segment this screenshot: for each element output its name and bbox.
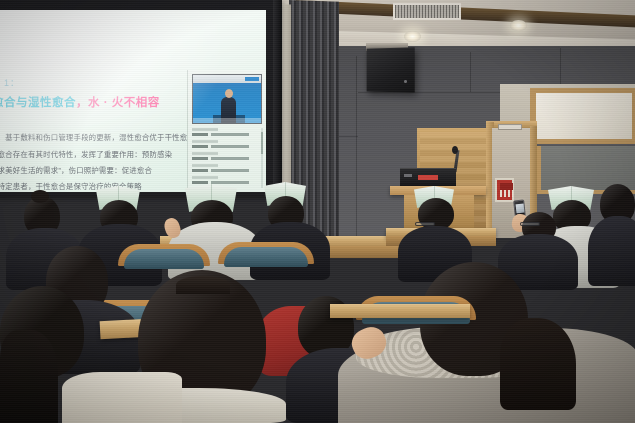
eyeglasses-icon — [520, 222, 540, 226]
comment-item — [192, 164, 264, 175]
microphone-head-icon — [452, 146, 458, 154]
projection-screen-surface: 1： 愈合与湿性愈合，水 · 火不相容 今，基于敷料和伤口管理手段的更新，湿性愈… — [0, 10, 266, 192]
attendee-cream-sleeve — [62, 372, 182, 423]
attendee-ponytail — [0, 330, 58, 423]
slide-heading-tail: ，水 · 火不相容 — [76, 97, 160, 109]
lecture-hall-photo: 1： 愈合与湿性愈合，水 · 火不相容 今，基于敷料和伤口管理手段的更新，湿性愈… — [0, 0, 635, 423]
slide-body-line: 追求美好生活的需求”，伤口照护需要：促进愈合 — [0, 165, 196, 176]
comment-text — [211, 145, 249, 148]
attendee-body — [588, 216, 635, 286]
slide-heading-main: 愈合与湿性愈合 — [0, 97, 76, 109]
ceiling-downlight-icon — [510, 20, 527, 31]
seat-back — [124, 249, 204, 269]
comment-author — [192, 157, 208, 160]
wall-notice-sign — [495, 178, 514, 202]
door-sign — [498, 124, 522, 130]
comment-author — [192, 133, 208, 136]
comment-item — [192, 140, 264, 151]
comment-item — [192, 128, 264, 139]
seat-back — [224, 247, 308, 267]
whiteboard-surface — [536, 93, 632, 139]
comment-text — [211, 169, 249, 172]
comment-text — [211, 181, 249, 184]
slide-body-line: 性愈合存在有其时代特性，发挥了重要作用：预防感染 — [0, 149, 196, 160]
slide-body-line: 今，基于敷料和伤口管理手段的更新，湿性愈合优于干性愈合 — [0, 132, 196, 143]
video-player[interactable] — [192, 74, 262, 124]
comment-author — [192, 169, 208, 172]
comment-timestamp — [192, 176, 218, 179]
ceiling-downlight-icon — [404, 31, 421, 42]
projection-screen-frame: 1： 愈合与湿性愈合，水 · 火不相容 今，基于敷料和伤口管理手段的更新，湿性愈… — [0, 0, 282, 196]
video-caption-bar — [193, 118, 261, 123]
wall-speaker-icon — [367, 47, 415, 92]
panel-seam — [356, 56, 357, 236]
panel-seam — [560, 48, 561, 88]
comment-text — [211, 157, 249, 160]
attendee-hair-bun — [31, 190, 49, 203]
comment-timestamp — [192, 152, 218, 155]
attendee-ponytail — [500, 318, 576, 410]
comment-author — [192, 181, 208, 184]
podium-panel-indicator — [418, 175, 438, 180]
attendee-hair-part — [176, 276, 230, 294]
comment-text — [211, 133, 249, 136]
video-browser-bar — [193, 75, 261, 83]
comment-timestamp — [192, 128, 218, 131]
comment-item — [192, 152, 264, 163]
slide-heading: 愈合与湿性愈合，水 · 火不相容 — [0, 94, 192, 110]
comment-timestamp — [192, 164, 218, 167]
speaker-led — [404, 80, 407, 83]
podium-panel-button[interactable] — [404, 174, 412, 177]
comment-author — [192, 145, 208, 148]
video-frame — [193, 75, 261, 123]
slide-number: 1： — [4, 76, 20, 89]
comment-scrollbar-thumb[interactable] — [261, 132, 263, 154]
comment-timestamp — [192, 140, 218, 143]
desk-row-foreground — [330, 304, 470, 318]
air-conditioning-vent-icon — [393, 3, 461, 20]
live-stream-panel[interactable] — [187, 70, 265, 192]
comment-feed[interactable] — [192, 128, 264, 192]
panel-seam — [470, 52, 471, 92]
whiteboard — [530, 88, 635, 144]
